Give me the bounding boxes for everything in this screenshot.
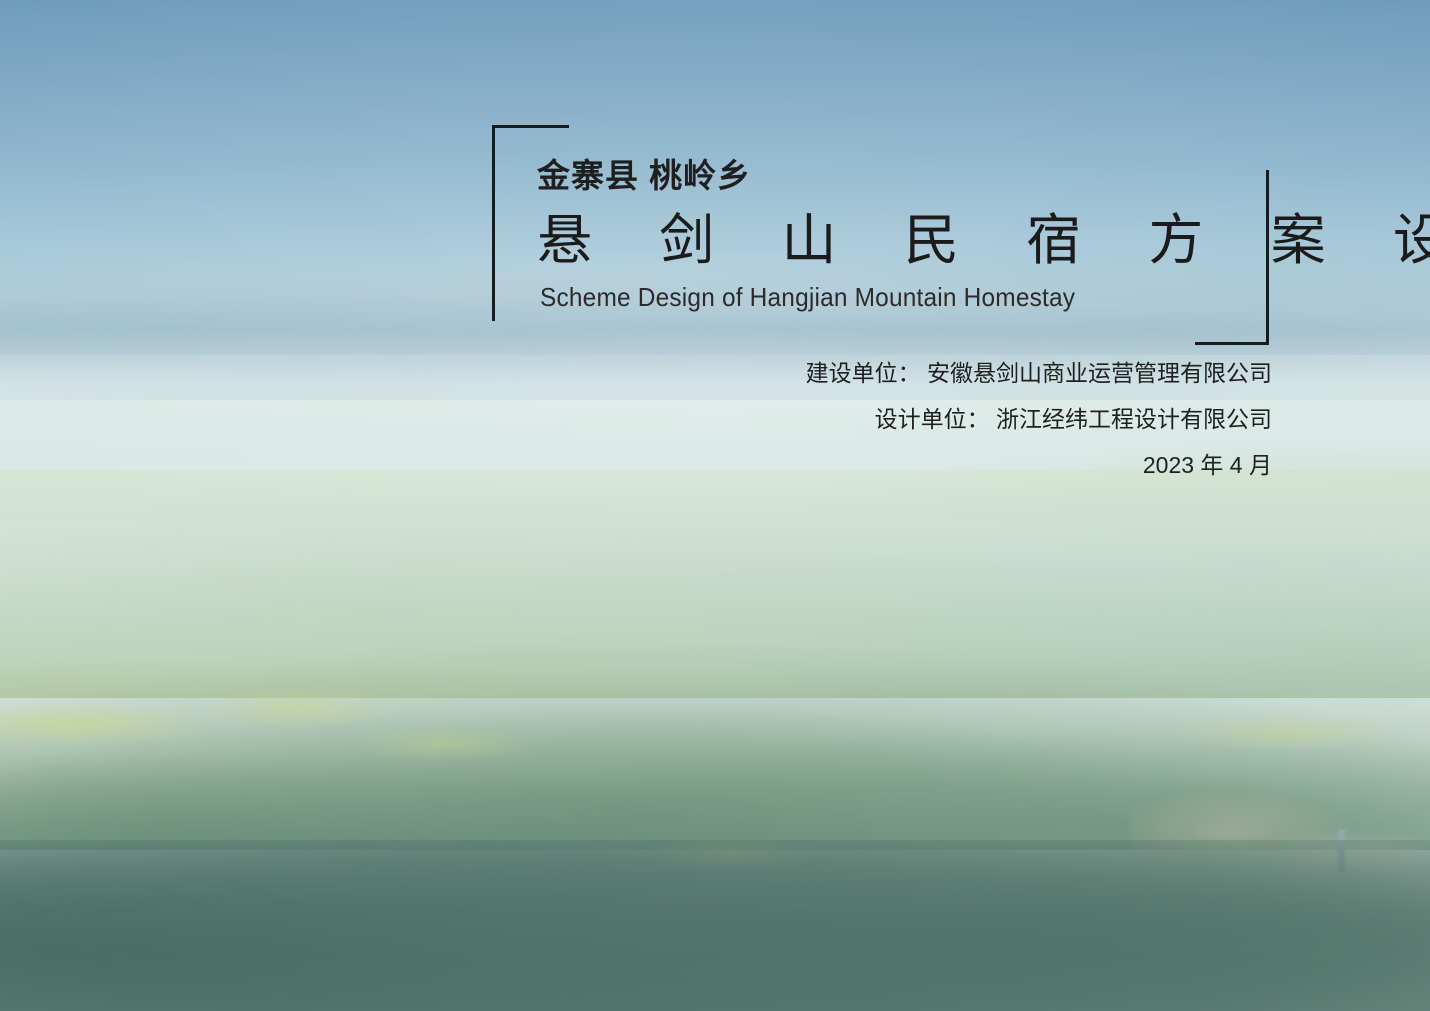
credits-block: 建设单位： 安徽悬剑山商业运营管理有限公司 设计单位： 浙江经纬工程设计有限公司… [806,362,1272,477]
design-organization: 设计单位： 浙江经纬工程设计有限公司 [806,408,1272,431]
foreground-forest-layer-2 [0,840,1430,1011]
title-block: 金寨县 桃岭乡 悬 剑 山 民 宿 方 案 设 计 Scheme Design … [537,155,1430,313]
location-kicker: 金寨县 桃岭乡 [537,155,1430,196]
client-organization: 建设单位： 安徽悬剑山商业运营管理有限公司 [806,362,1272,385]
cover-page: 金寨县 桃岭乡 悬 剑 山 民 宿 方 案 设 计 Scheme Design … [0,0,1430,1011]
page-title: 悬 剑 山 民 宿 方 案 设 计 [537,208,1430,273]
publication-date: 2023 年 4 月 [806,454,1272,477]
page-subtitle-english: Scheme Design of Hangjian Mountain Homes… [540,282,1430,313]
